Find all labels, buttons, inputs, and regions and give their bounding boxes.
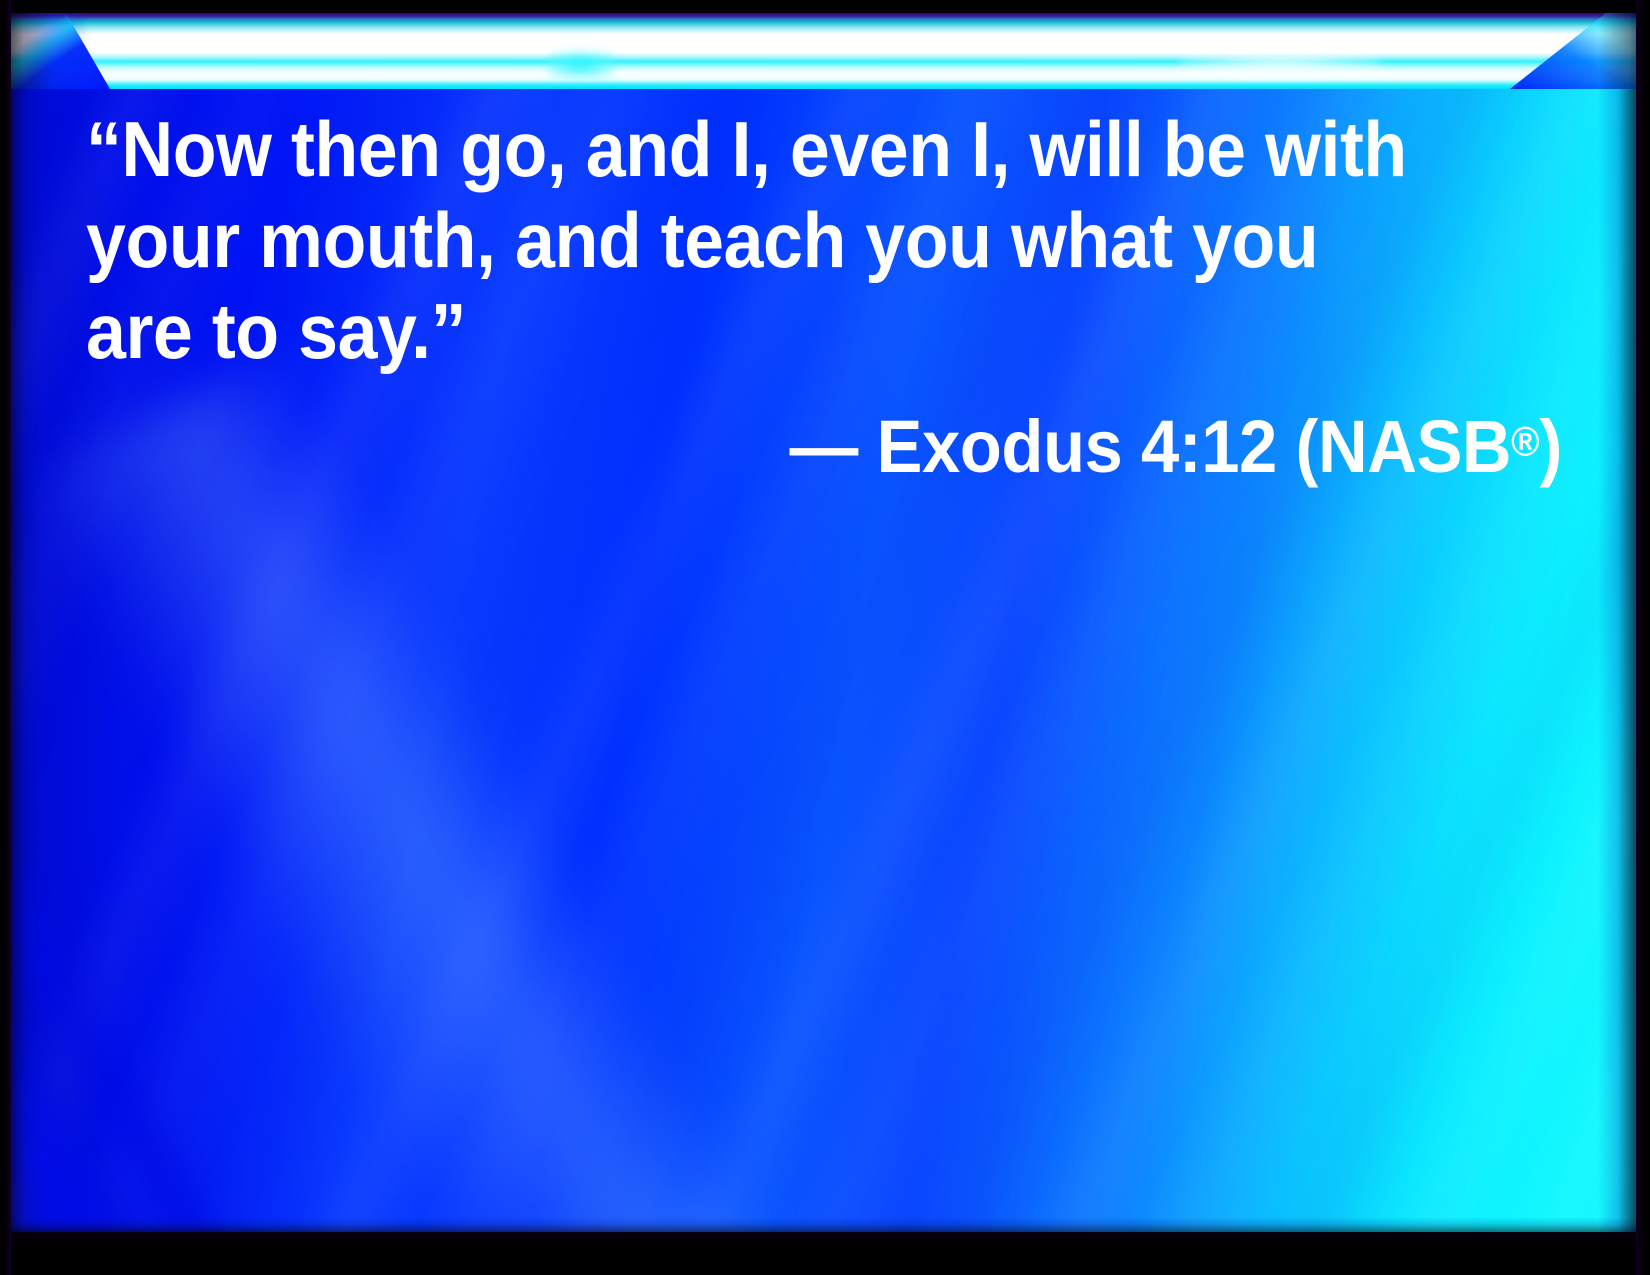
attribution-text: — Exodus 4:12 (NASB®) (790, 405, 1562, 488)
attribution-em-dash: — (790, 405, 877, 488)
attribution-translation: (NASB (1296, 405, 1512, 488)
background-bottom-vignette (0, 1217, 1650, 1233)
header-band-white-fill (0, 13, 1650, 89)
quote-block: “Now then go, and I, even I, will be wit… (0, 104, 1650, 489)
header-band-white-highlight (1180, 53, 1380, 73)
header-band-cyan-blob-icon (548, 51, 614, 79)
scripture-quote-slide: “Now then go, and I, even I, will be wit… (0, 0, 1650, 1275)
frame-bottom-border (0, 1232, 1650, 1275)
quote-text: “Now then go, and I, even I, will be wit… (86, 104, 1444, 377)
frame-top-border (0, 0, 1650, 13)
header-glow-band (0, 13, 1650, 89)
header-band-left-shadow (0, 13, 90, 89)
frame-right-border (1636, 0, 1650, 1275)
attribution-line: — Exodus 4:12 (NASB®) (189, 377, 1562, 489)
registered-trademark-icon: ® (1511, 417, 1539, 464)
attribution-reference: Exodus 4:12 (877, 405, 1296, 488)
attribution-paren-close: ) (1540, 405, 1562, 488)
frame-left-border (0, 0, 11, 1275)
